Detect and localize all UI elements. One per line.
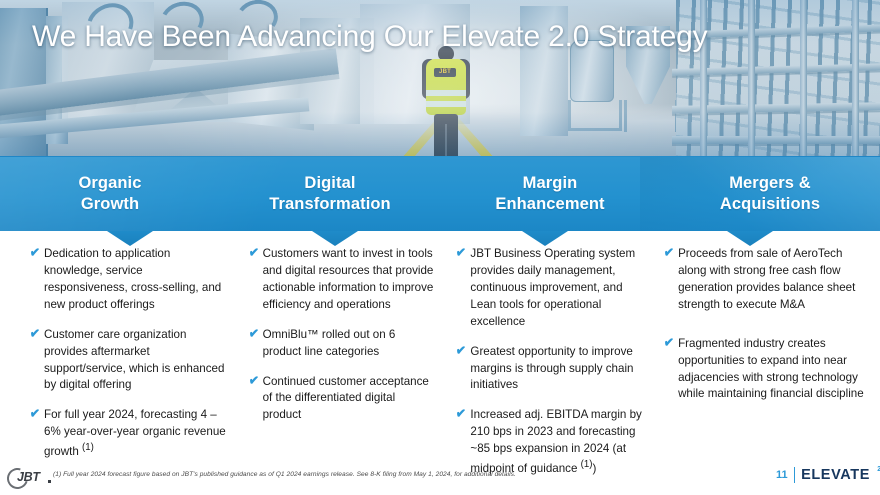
chevron-down-icon-margin-enhancement [522, 231, 568, 246]
jbt-logo: JBT [7, 467, 51, 486]
check-icon: ✔ [663, 244, 674, 260]
footer-divider [794, 467, 795, 483]
bullet-text: OmniBlu™ rolled out on 6 product line ca… [263, 328, 396, 358]
check-icon: ✔ [663, 334, 674, 350]
hero-image: JBT We Have Been Advancing Our Elevate 2… [0, 0, 880, 160]
pillar-organic-growth[interactable]: Organic Growth [0, 157, 220, 231]
pipe-column-2 [748, 0, 755, 158]
worker-leg-split [445, 124, 447, 160]
check-icon: ✔ [29, 244, 40, 260]
pillar-mergers-acquisitions[interactable]: Mergers & Acquisitions [660, 157, 880, 231]
pillar-list: Organic Growth Digital Transformation Ma… [0, 157, 880, 231]
column-margin-enhancement: ✔ JBT Business Operating system provides… [448, 246, 658, 456]
hopper-legs [624, 100, 678, 132]
bullet-text: Proceeds from sale of AeroTech along wit… [678, 247, 855, 311]
worker-figure: JBT [420, 46, 472, 160]
check-icon: ✔ [456, 406, 467, 422]
chevron-down-icon-digital-transformation [312, 231, 358, 246]
pillar-title: Digital Transformation [269, 173, 391, 215]
list-item: ✔ Customers want to invest in tools and … [249, 246, 437, 314]
slide-footer: JBT (1) Full year 2024 forecast figure b… [0, 461, 880, 495]
footnote-text: (1) Full year 2024 forecast figure based… [53, 471, 516, 478]
chevron-down-icon-mergers-acquisitions [727, 231, 773, 246]
list-item: ✔ Greatest opportunity to improve margin… [456, 344, 646, 395]
check-icon: ✔ [29, 325, 40, 341]
chevron-down-icon-organic-growth [107, 231, 153, 246]
page-number: 11 [776, 469, 788, 481]
bullet-text: Fragmented industry creates opportunitie… [678, 337, 864, 401]
pillar-title: Mergers & Acquisitions [720, 173, 820, 215]
jbt-wordmark: JBT [17, 470, 40, 484]
list-item: ✔ Continued customer acceptance of the d… [249, 374, 437, 425]
list-item: ✔ Dedication to application knowledge, s… [30, 246, 229, 314]
bullet-text: Continued customer acceptance of the dif… [263, 375, 429, 422]
check-icon: ✔ [248, 372, 259, 388]
pillar-title: Organic Growth [78, 173, 141, 215]
list-item: ✔ For full year 2024, forecasting 4 – 6%… [30, 407, 229, 461]
pillar-digital-transformation[interactable]: Digital Transformation [220, 157, 440, 231]
pillar-margin-enhancement[interactable]: Margin Enhancement [440, 157, 660, 231]
elevate-brand-mark: ELEVATE 2.0 [801, 467, 870, 483]
pipe-column-4 [852, 0, 859, 158]
jbt-logo-dot [48, 480, 51, 483]
vest-reflective-stripe-1 [426, 90, 466, 96]
list-item: ✔ Proceeds from sale of AeroTech along w… [664, 246, 868, 314]
vessel-legs [568, 100, 622, 131]
pillar-banner: Organic Growth Digital Transformation Ma… [0, 157, 880, 231]
check-icon: ✔ [456, 342, 467, 358]
list-item: ✔ JBT Business Operating system provides… [456, 246, 646, 331]
worker-vest-logo: JBT [434, 68, 456, 77]
bullet-text: Customers want to invest in tools and di… [263, 247, 434, 311]
pipe-column-3 [800, 0, 807, 158]
pillar-title: Margin Enhancement [495, 173, 604, 215]
list-item: ✔ OmniBlu™ rolled out on 6 product line … [249, 327, 437, 361]
check-icon: ✔ [29, 406, 40, 422]
check-icon: ✔ [456, 244, 467, 260]
column-mergers-acquisitions: ✔ Proceeds from sale of AeroTech along w… [658, 246, 880, 456]
bullet-text: JBT Business Operating system provides d… [470, 247, 635, 328]
bullet-text: Dedication to application knowledge, ser… [44, 247, 221, 311]
bullet-text: Customer care organization provides afte… [44, 328, 224, 392]
slide-root: JBT We Have Been Advancing Our Elevate 2… [0, 0, 880, 495]
check-icon: ✔ [248, 244, 259, 260]
elevate-brand-text: ELEVATE [801, 467, 870, 483]
content-columns: ✔ Dedication to application knowledge, s… [0, 246, 880, 456]
list-item: ✔ Customer care organization provides af… [30, 327, 229, 395]
page-title: We Have Been Advancing Our Elevate 2.0 S… [32, 20, 707, 54]
bullet-text: For full year 2024, forecasting 4 – 6% y… [44, 408, 226, 458]
vest-reflective-stripe-2 [426, 101, 466, 107]
footer-meta: 11 ELEVATE 2.0 [776, 467, 870, 483]
footnote-ref: (1) [82, 442, 94, 453]
column-organic-growth: ✔ Dedication to application knowledge, s… [0, 246, 241, 456]
check-icon: ✔ [248, 325, 259, 341]
column-digital-transformation: ✔ Customers want to invest in tools and … [241, 246, 449, 456]
bullet-text: Greatest opportunity to improve margins … [470, 345, 633, 392]
list-item: ✔ Fragmented industry creates opportunit… [664, 336, 868, 404]
